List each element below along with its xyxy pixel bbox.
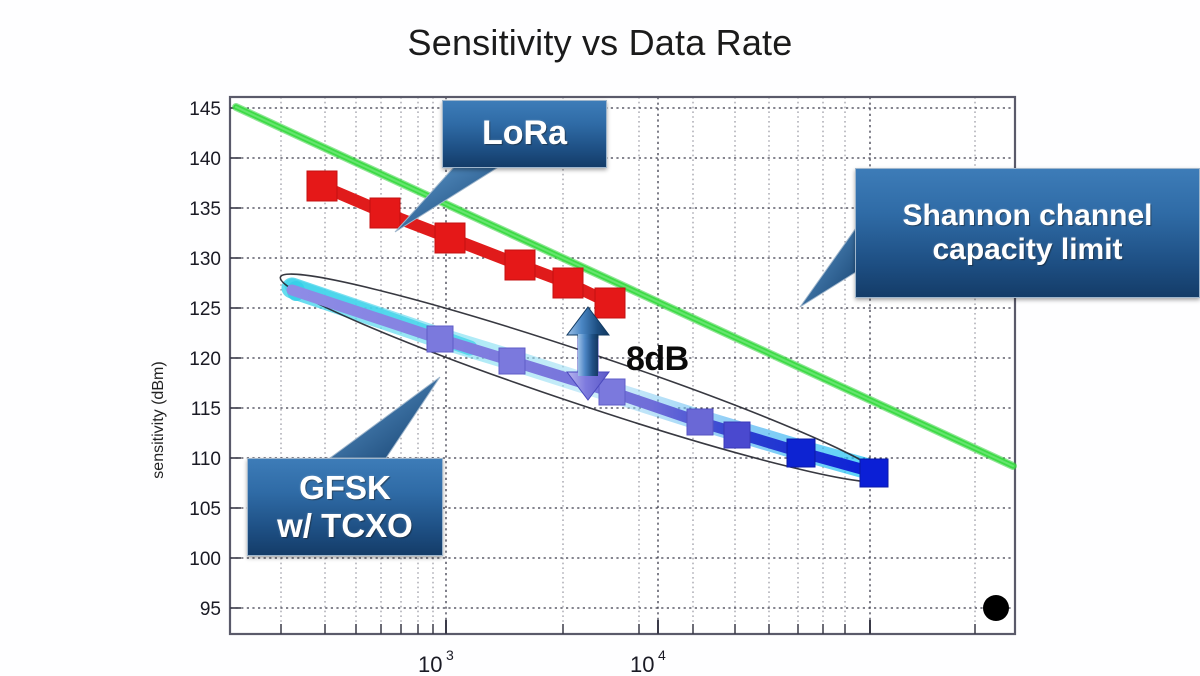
data-point-marker: [435, 223, 465, 253]
data-point-marker: [370, 198, 400, 228]
data-point-marker: [499, 348, 525, 374]
y-tick-label: 125: [189, 299, 221, 320]
data-point-marker: [724, 422, 750, 448]
callout-lora[interactable]: LoRa: [442, 100, 607, 168]
reference-point-dot: [983, 595, 1009, 621]
y-tick-label: 130: [189, 249, 221, 270]
y-tick-label: 120: [189, 349, 221, 370]
x-tick-label: 10: [418, 652, 442, 676]
y-axis-title: sensitivity (dBm): [150, 361, 167, 478]
callout-gfsk-label: GFSK w/ TCXO: [277, 469, 413, 545]
y-tick-label: 135: [189, 199, 221, 220]
data-point-marker: [599, 379, 625, 405]
callout-shannon-line2: capacity limit: [932, 233, 1122, 266]
data-point-marker: [860, 459, 888, 487]
callout-gfsk[interactable]: GFSK w/ TCXO: [247, 458, 443, 556]
gap-label-8db: 8dB: [626, 340, 689, 379]
y-tick-label: 110: [191, 449, 221, 470]
y-tick-label: 95: [200, 599, 221, 620]
y-tick-label: 145: [189, 99, 221, 120]
slide-canvas: Sensitivity vs Data Rate: [0, 0, 1200, 676]
callout-gfsk-line2: w/ TCXO: [277, 507, 413, 544]
y-tick-label: 100: [189, 549, 221, 570]
callout-lora-label: LoRa: [482, 114, 567, 153]
data-point-marker: [427, 326, 453, 352]
x-tick-label: 10: [630, 652, 654, 676]
data-point-marker: [687, 409, 713, 435]
callout-shannon-label: Shannon channel capacity limit: [902, 199, 1152, 268]
x-tick-exponent: 4: [658, 647, 666, 663]
callout-shannon[interactable]: Shannon channel capacity limit: [855, 168, 1200, 298]
y-tick-label: 140: [189, 149, 221, 170]
data-point-marker: [553, 268, 583, 298]
data-point-marker: [307, 171, 337, 201]
x-tick-exponent: 3: [446, 647, 454, 663]
callout-gfsk-line1: GFSK: [299, 469, 391, 506]
data-point-marker: [505, 250, 535, 280]
data-point-marker: [787, 439, 815, 467]
data-point-marker: [595, 288, 625, 318]
y-tick-label: 105: [189, 499, 221, 520]
y-axis-tick-labels: 145 140 135 130 125 120 115 110 105 100 …: [189, 99, 221, 620]
callout-shannon-line1: Shannon channel: [902, 199, 1152, 232]
x-axis-tick-labels: 10 3 10 4: [418, 647, 666, 676]
y-tick-label: 115: [191, 399, 221, 420]
